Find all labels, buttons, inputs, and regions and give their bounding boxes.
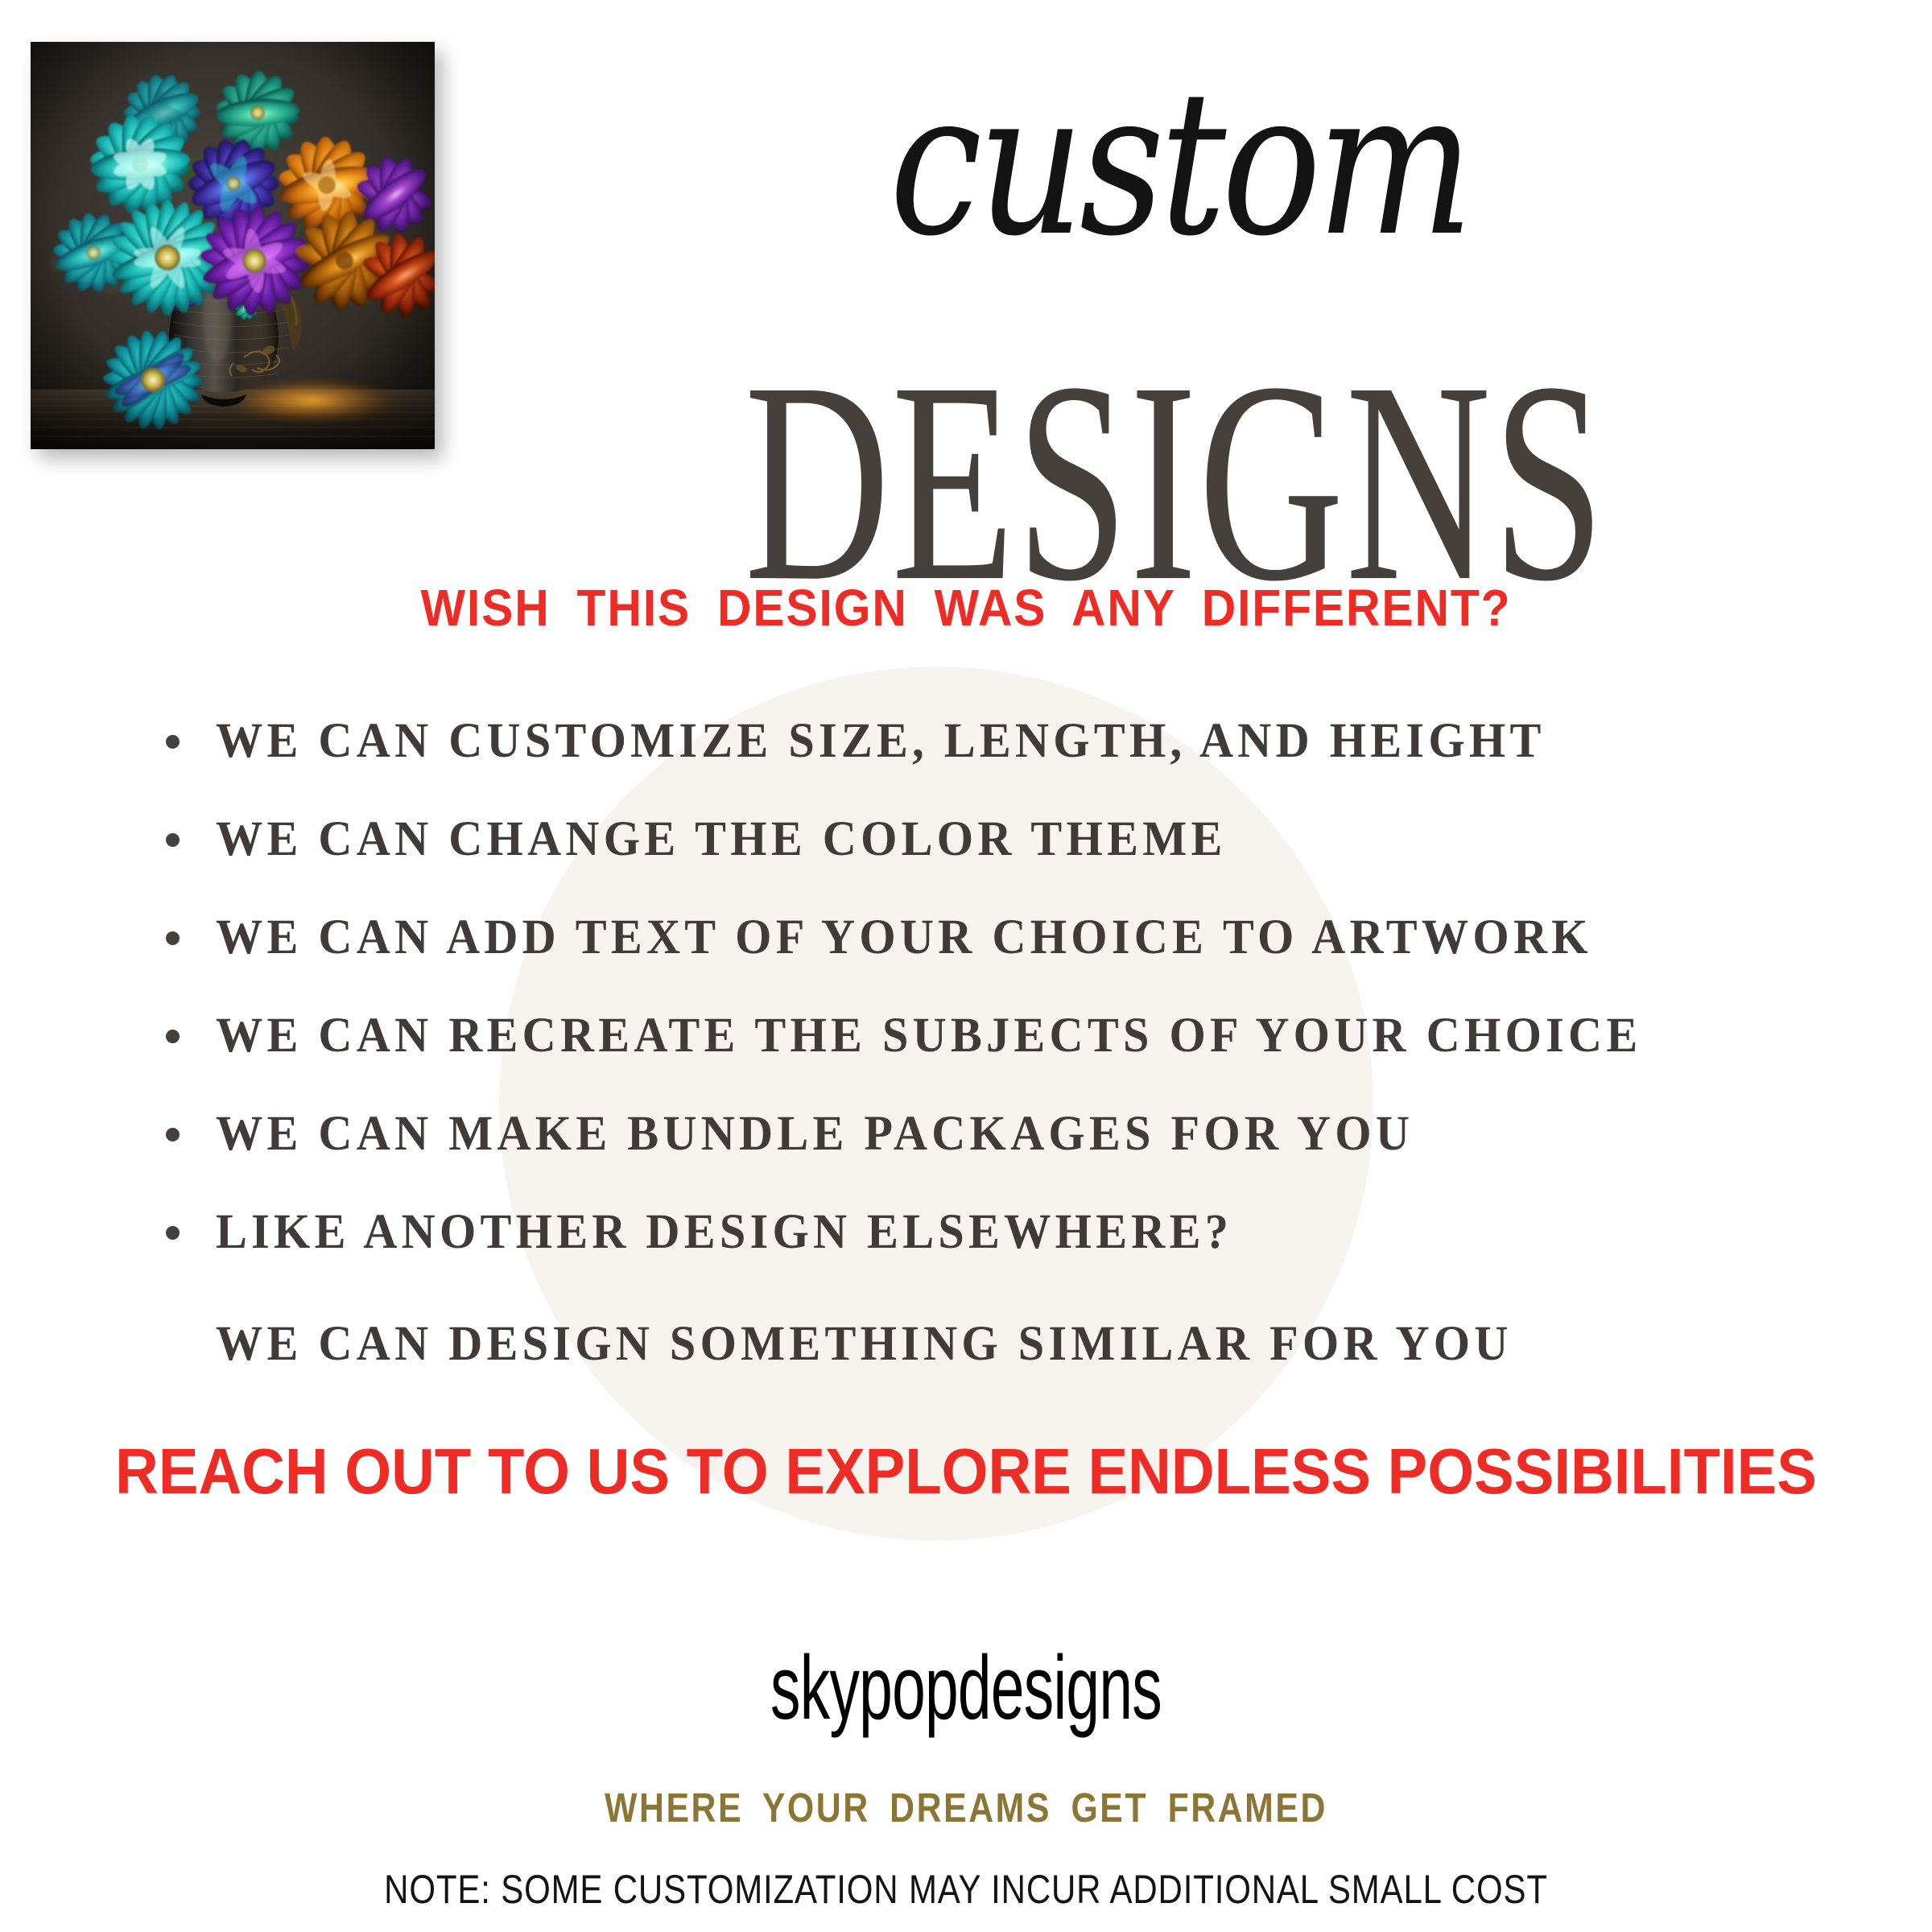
headline-block: custom DESIGNS <box>451 56 1900 425</box>
list-item-label: WE CAN CHANGE THE COLOR THEME <box>216 811 1227 868</box>
subtitle-question: WISH THIS DESIGN WAS ANY DIFFERENT? <box>77 578 1855 638</box>
bullet-icon <box>166 1128 180 1141</box>
list-item: WE CAN CUSTOMIZE SIZE, LENGTH, AND HEIGH… <box>161 708 1868 774</box>
custom-script-word: custom <box>465 69 1885 258</box>
flower-still-life-artwork[interactable] <box>31 42 435 449</box>
benefits-list: WE CAN CUSTOMIZE SIZE, LENGTH, AND HEIGH… <box>161 708 1868 1298</box>
bullet-icon <box>166 833 180 847</box>
cost-note: NOTE: SOME CUSTOMIZATION MAY INCUR ADDIT… <box>155 1866 1777 1913</box>
artwork-illustration <box>31 42 435 449</box>
list-item-label: WE CAN CUSTOMIZE SIZE, LENGTH, AND HEIGH… <box>216 713 1546 770</box>
list-item: WE CAN ADD TEXT OF YOUR CHOICE TO ARTWOR… <box>161 905 1868 971</box>
brand-name: skypopdesigns <box>270 1637 1662 1740</box>
call-to-action-text: REACH OUT TO US TO EXPLORE ENDLESS POSSI… <box>68 1435 1864 1509</box>
bullet-icon <box>166 1030 180 1043</box>
list-item: LIKE ANOTHER DESIGN ELSEWHERE? <box>161 1199 1868 1265</box>
list-item-label: WE CAN MAKE BUNDLE PACKAGES FOR YOU <box>216 1106 1414 1162</box>
bullet-icon <box>166 931 180 945</box>
list-item: WE CAN RECREATE THE SUBJECTS OF YOUR CHO… <box>161 1003 1868 1069</box>
bullet-icon <box>166 1226 180 1240</box>
bullet-icon <box>166 735 180 749</box>
list-item-label: LIKE ANOTHER DESIGN ELSEWHERE? <box>216 1204 1232 1261</box>
list-item: WE CAN MAKE BUNDLE PACKAGES FOR YOU <box>161 1101 1868 1167</box>
list-item: WE CAN CHANGE THE COLOR THEME <box>161 807 1868 873</box>
brand-tagline: WHERE YOUR DREAMS GET FRAMED <box>155 1784 1777 1831</box>
list-item-label: WE CAN ADD TEXT OF YOUR CHOICE TO ARTWOR… <box>216 910 1592 966</box>
list-item-label: WE CAN RECREATE THE SUBJECTS OF YOUR CHO… <box>216 1008 1641 1064</box>
benefits-continuation-line: WE CAN DESIGN SOMETHING SIMILAR FOR YOU <box>216 1316 1513 1373</box>
